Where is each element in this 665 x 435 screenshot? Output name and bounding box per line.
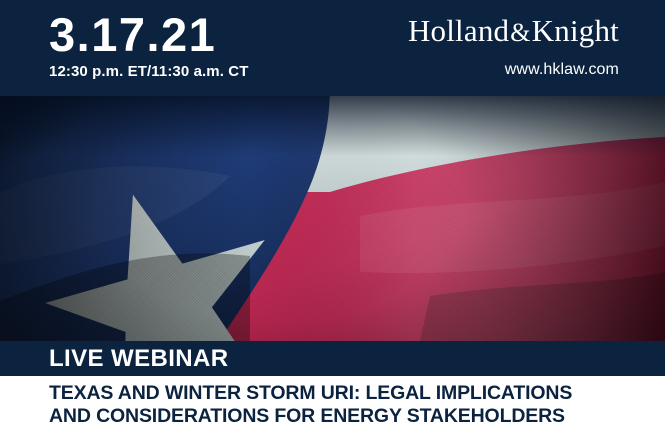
website-url[interactable]: www.hklaw.com — [408, 60, 619, 80]
holland-knight-logo: Holland&Knight — [408, 14, 619, 50]
texas-flag-hero-image — [0, 96, 665, 341]
webinar-promo-banner: 3.17.21 12:30 p.m. ET/11:30 a.m. CT Holl… — [0, 0, 665, 435]
live-webinar-band: LIVE WEBINAR — [0, 341, 665, 376]
webinar-title-line-2: AND CONSIDERATIONS FOR ENERGY STAKEHOLDE… — [49, 404, 565, 428]
ampersand-icon: & — [509, 18, 531, 47]
webinar-title-line-1: TEXAS AND WINTER STORM URI: LEGAL IMPLIC… — [49, 381, 572, 405]
live-webinar-label: LIVE WEBINAR — [49, 344, 228, 373]
event-time: 12:30 p.m. ET/11:30 a.m. CT — [49, 63, 248, 81]
event-date-block: 3.17.21 12:30 p.m. ET/11:30 a.m. CT — [49, 10, 248, 81]
texas-flag-illustration — [0, 96, 665, 341]
logo-word-holland: Holland — [408, 13, 509, 48]
event-date: 3.17.21 — [49, 10, 248, 60]
brand-block: Holland&Knight www.hklaw.com — [408, 14, 619, 80]
webinar-title-area: TEXAS AND WINTER STORM URI: LEGAL IMPLIC… — [0, 376, 665, 435]
header-bar: 3.17.21 12:30 p.m. ET/11:30 a.m. CT Holl… — [0, 0, 665, 96]
logo-word-knight: Knight — [532, 13, 619, 48]
